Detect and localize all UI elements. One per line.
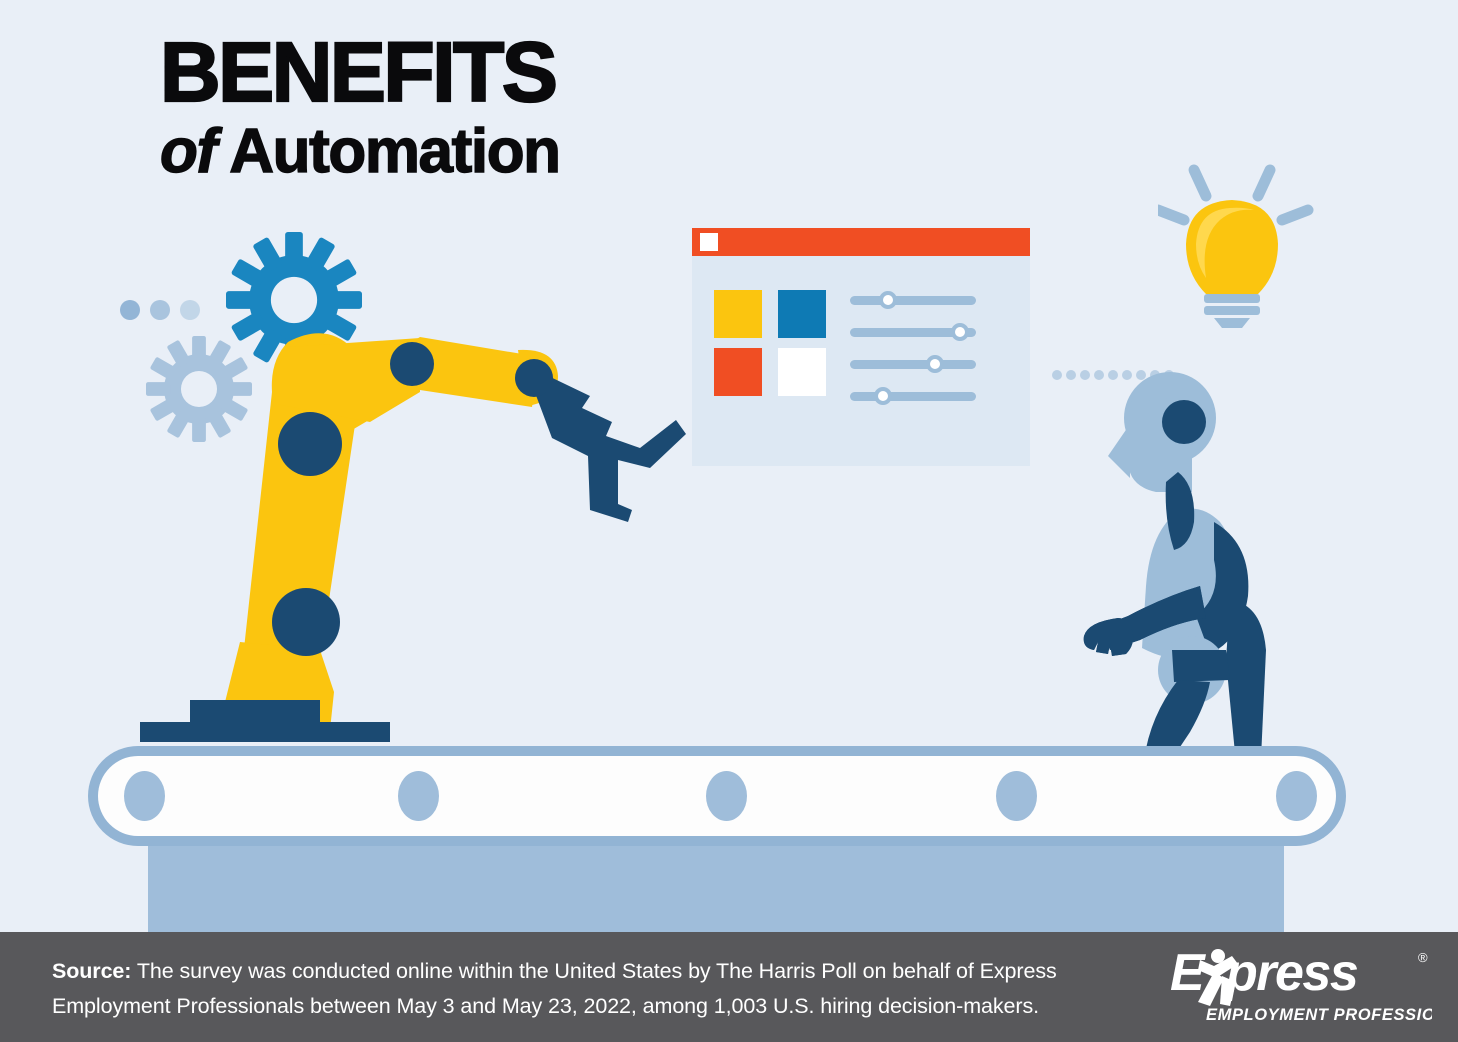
conveyor-roller [398, 771, 439, 821]
express-logo: E press ® EMPLOYMENT PROFESSIONALS [1170, 944, 1432, 1028]
conveyor-roller [1276, 771, 1317, 821]
infographic-canvas: BENEFITS of Automation [0, 0, 1458, 1042]
svg-text:E: E [1170, 944, 1206, 1002]
svg-text:press: press [1224, 944, 1358, 1002]
registered-mark: ® [1418, 950, 1428, 965]
conveyor-roller [706, 771, 747, 821]
conveyor-roller [996, 771, 1037, 821]
conveyor-base [148, 838, 1284, 936]
conveyor-roller [124, 771, 165, 821]
source-text: The survey was conducted online within t… [52, 959, 1057, 1018]
source-label: Source: [52, 959, 131, 983]
source-note: Source: The survey was conducted online … [52, 954, 1132, 1024]
logo-tagline: EMPLOYMENT PROFESSIONALS [1206, 1006, 1432, 1024]
